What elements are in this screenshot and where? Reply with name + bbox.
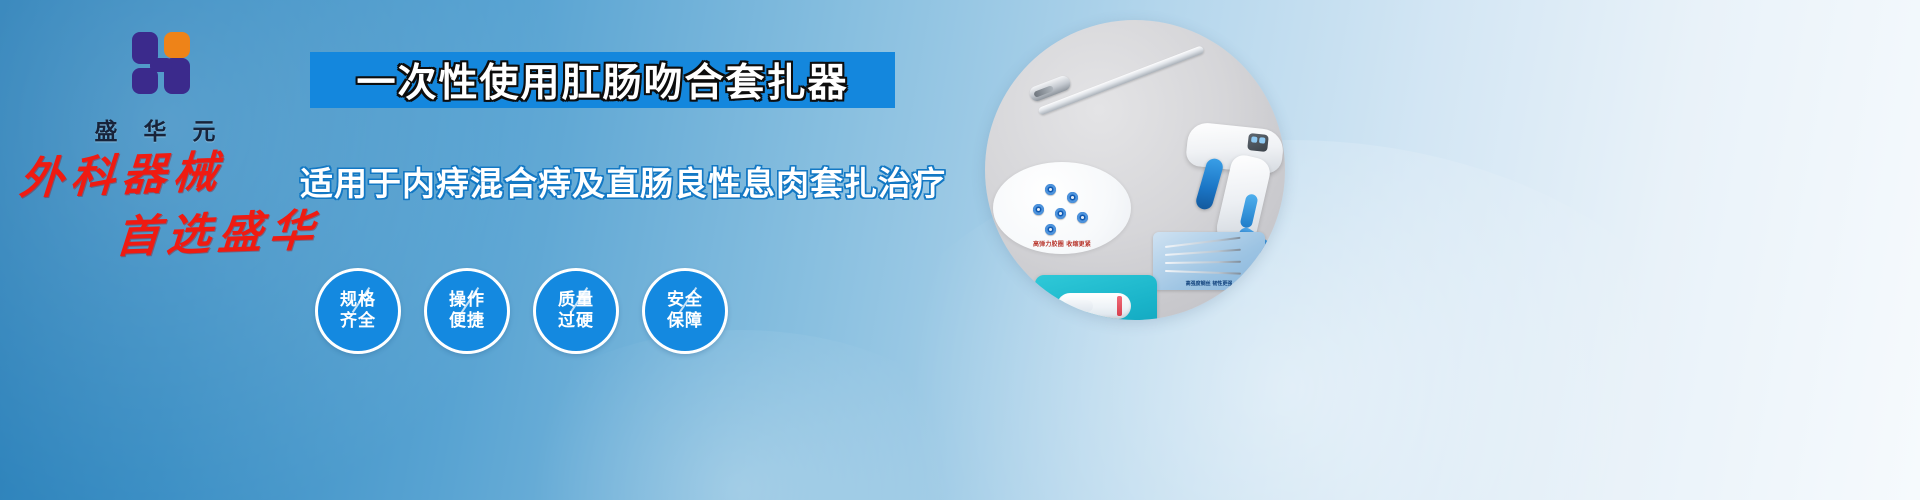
page-subtitle: 适用于内痔混合痔及直肠良性息肉套扎治疗	[300, 157, 940, 205]
rubber-ring-icon	[1033, 204, 1044, 215]
shenghuayuan-blocks-logo-icon	[112, 28, 198, 106]
rubber-ring-icon	[1045, 224, 1056, 235]
needle-icon	[1165, 249, 1241, 256]
rubber-ring-icon	[1055, 208, 1066, 219]
needles-caption: 高强度钢丝 韧性更强	[1153, 280, 1265, 287]
feature-badge-3[interactable]: 质量 过硬	[533, 268, 619, 354]
page-title: 一次性使用肛肠吻合套扎器	[356, 52, 848, 108]
rubber-band-plate: 高弹力胶圈 收缩更紧	[993, 162, 1131, 254]
rubber-ring-icon	[1067, 192, 1078, 203]
applicator-tube-card	[1035, 275, 1157, 320]
needle-icon	[1165, 237, 1241, 248]
feature-badge-1-line1: 规格	[340, 290, 376, 311]
feature-badge-1[interactable]: 规格 齐全	[315, 268, 401, 354]
feature-badge-2[interactable]: 操作 便捷	[424, 268, 510, 354]
gun-control-buttons-icon	[1247, 133, 1269, 152]
feature-badge-2-line1: 操作	[449, 290, 485, 311]
feature-badge-4-line1: 安全	[667, 290, 703, 311]
rubber-ring-icon	[1045, 184, 1056, 195]
title-bar: 一次性使用肛肠吻合套扎器	[310, 52, 895, 108]
feature-badge-4[interactable]: 安全 保障	[642, 268, 728, 354]
needle-insert-card: 高强度钢丝 韧性更强	[1153, 232, 1265, 290]
feature-badge-3-line2: 过硬	[558, 311, 594, 332]
feature-badge-4-line2: 保障	[667, 311, 703, 332]
plate-caption: 高弹力胶圈 收缩更紧	[993, 239, 1131, 248]
product-photo: 高弹力胶圈 收缩更紧 高强度钢丝 韧性更强	[985, 20, 1285, 320]
feature-badge-list: 规格 齐全 操作 便捷 质量 过硬 安全 保障	[315, 268, 728, 354]
calligraphy-line-2: 首选盛华	[114, 208, 362, 260]
rubber-ring-icon	[1077, 212, 1088, 223]
brand-logo-block[interactable]: 盛 华 元	[60, 28, 250, 146]
needle-icon	[1165, 261, 1241, 264]
needle-icon	[1165, 270, 1241, 275]
feature-badge-1-line2: 齐全	[340, 311, 376, 332]
feature-badge-2-line2: 便捷	[449, 311, 485, 332]
brand-name: 盛 华 元	[60, 112, 250, 146]
applicator-tube-icon	[1057, 293, 1131, 319]
background-glow-right	[840, 140, 1740, 500]
feature-badge-3-line1: 质量	[558, 290, 594, 311]
background-glow-center	[480, 330, 1000, 500]
